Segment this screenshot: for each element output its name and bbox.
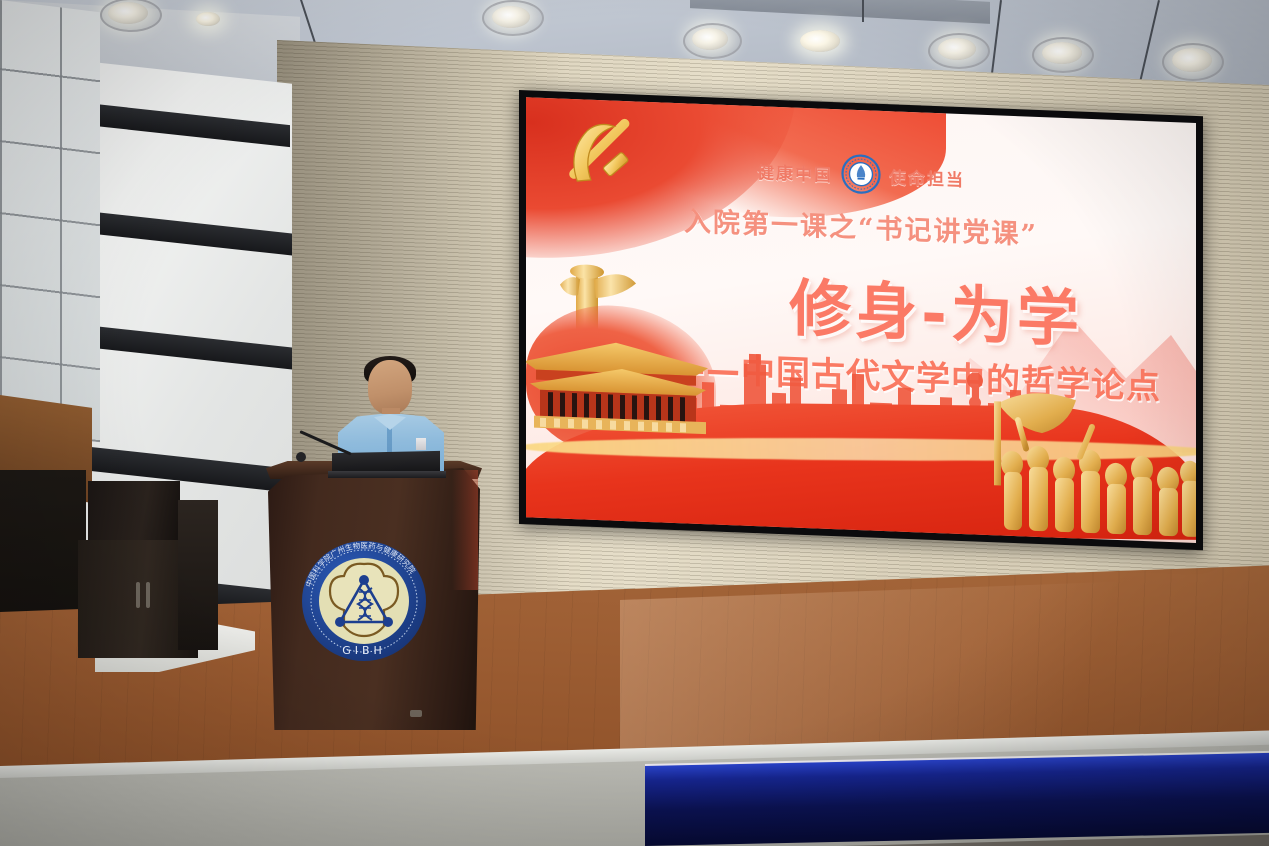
ceiling-spotlight: [800, 30, 840, 52]
name-badge: [416, 438, 426, 450]
monument-sculpture-graphic: [972, 374, 1196, 543]
healthy-china-circular-logo: [841, 153, 881, 195]
slide-header-left-text: 健康中国: [757, 158, 833, 186]
ceiling-spotlight-ring: [482, 0, 544, 36]
laptop-base: [328, 471, 446, 478]
glass-panel-grid: [0, 0, 100, 442]
ceiling-wire: [862, 0, 864, 22]
ceiling-spotlight-ring: [1162, 43, 1224, 81]
gibh-institute-seal: 中国科学院广州生物医药与健康研究院 GIBH: [296, 536, 432, 666]
ceiling-spotlight-ring: [683, 23, 742, 59]
microphone-head: [296, 452, 306, 462]
seal-acronym: GIBH: [342, 644, 386, 657]
head: [368, 360, 412, 414]
ceiling-spotlight-ring: [928, 33, 990, 69]
loudspeaker-top: [88, 481, 180, 543]
blue-chair-back[interactable]: [645, 753, 1269, 846]
loudspeaker-side: [178, 500, 218, 650]
cabinet-handle[interactable]: [146, 582, 150, 608]
podium-latch: [410, 710, 422, 717]
tiananmen-gate-graphic: [526, 325, 720, 453]
ceiling-spotlight: [196, 12, 220, 26]
cabinet-handle[interactable]: [136, 582, 140, 608]
led-screen[interactable]: 健康中国 使命担当 入院第一课之“书记讲党课”: [526, 97, 1196, 543]
led-screen-frame: 健康中国 使命担当 入院第一课之“书记讲党课”: [519, 90, 1203, 550]
lecture-hall-photo: 健康中国 使命担当 入院第一课之“书记讲党课”: [0, 0, 1269, 846]
ceiling-spotlight-ring: [1032, 37, 1094, 73]
podium-edge-highlight: [452, 470, 478, 590]
slide-header-right-text: 使命担当: [889, 163, 965, 191]
